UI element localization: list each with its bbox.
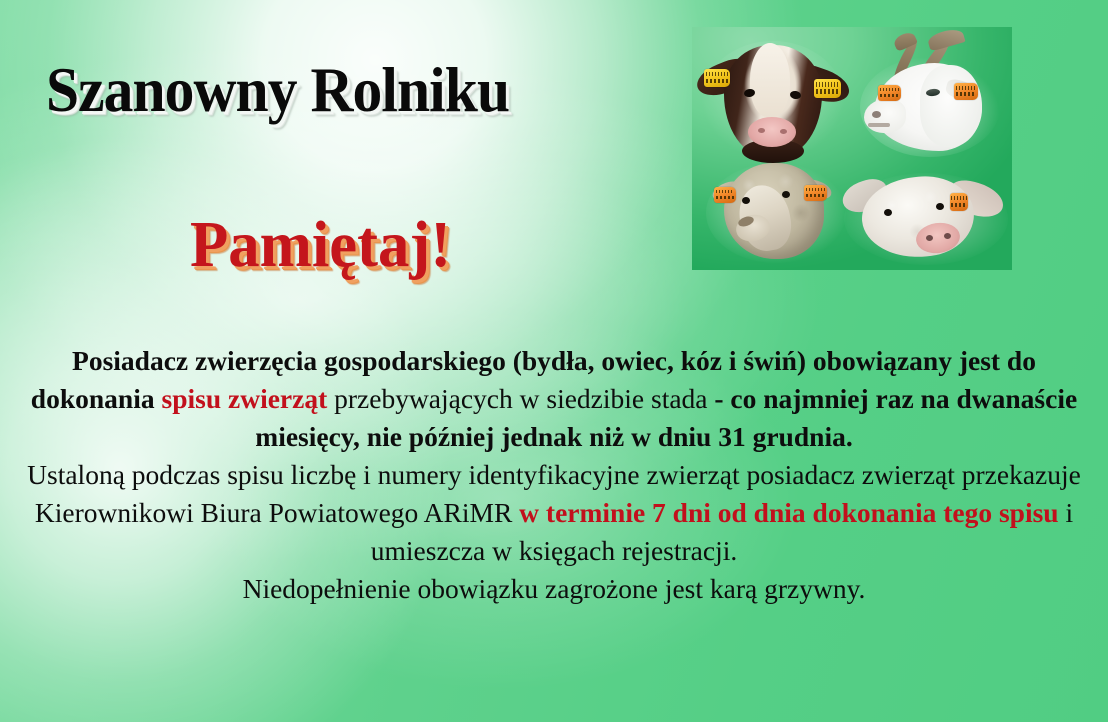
para2-highlight-deadline: w terminie 7 dni od dnia dokonania tego … <box>519 497 1058 528</box>
sheep-eye-left <box>742 197 750 204</box>
pig-eye-right <box>936 203 944 210</box>
goat-snout <box>864 99 906 133</box>
pig-head-icon <box>842 169 1012 267</box>
sheep-eye-right <box>782 191 790 198</box>
pig-nostril-left <box>926 235 933 241</box>
sheep-head-icon <box>706 159 846 265</box>
pig-ear-tag-icon <box>950 193 968 211</box>
para1-segment-3: przebywających w siedzibie stada <box>327 383 707 414</box>
goat-head-icon <box>850 33 1008 161</box>
paragraph-obligation: Posiadacz zwierzęcia gospodarskiego (byd… <box>24 342 1084 456</box>
sheep-ear-tag-right-icon <box>804 185 827 201</box>
paragraph-reporting: Ustaloną podczas spisu liczbę i numery i… <box>24 456 1084 570</box>
para1-highlight-spisu-zwierzat: spisu zwierząt <box>162 383 328 414</box>
cow-head-icon <box>698 35 848 163</box>
farm-animals-image <box>692 27 1012 270</box>
paragraph-penalty: Niedopełnienie obowiązku zagrożone jest … <box>24 570 1084 608</box>
cow-ear-tag-left-icon <box>704 69 730 87</box>
pig-nostril-right <box>944 233 951 239</box>
page-title: Szanowny Rolniku <box>46 58 509 122</box>
cow-ear-tag-right-icon <box>814 79 841 98</box>
cow-nostril-left <box>758 128 765 133</box>
cow-muzzle <box>748 117 796 147</box>
goat-mouth <box>868 123 890 127</box>
pig-eye-left <box>884 209 892 216</box>
goat-cheek <box>920 65 982 147</box>
poster-canvas: Szanowny Rolniku Pamiętaj! <box>0 0 1108 722</box>
goat-nose <box>872 111 881 118</box>
subheading-remember: Pamiętaj! <box>190 212 451 278</box>
poster-body-text: Posiadacz zwierzęcia gospodarskiego (byd… <box>24 342 1084 608</box>
cow-nostril-right <box>780 129 787 134</box>
goat-ear-tag-right-icon <box>954 83 978 100</box>
cow-white-blaze <box>750 43 790 117</box>
sheep-ear-tag-left-icon <box>714 187 736 203</box>
goat-ear-tag-left-icon <box>878 85 901 101</box>
